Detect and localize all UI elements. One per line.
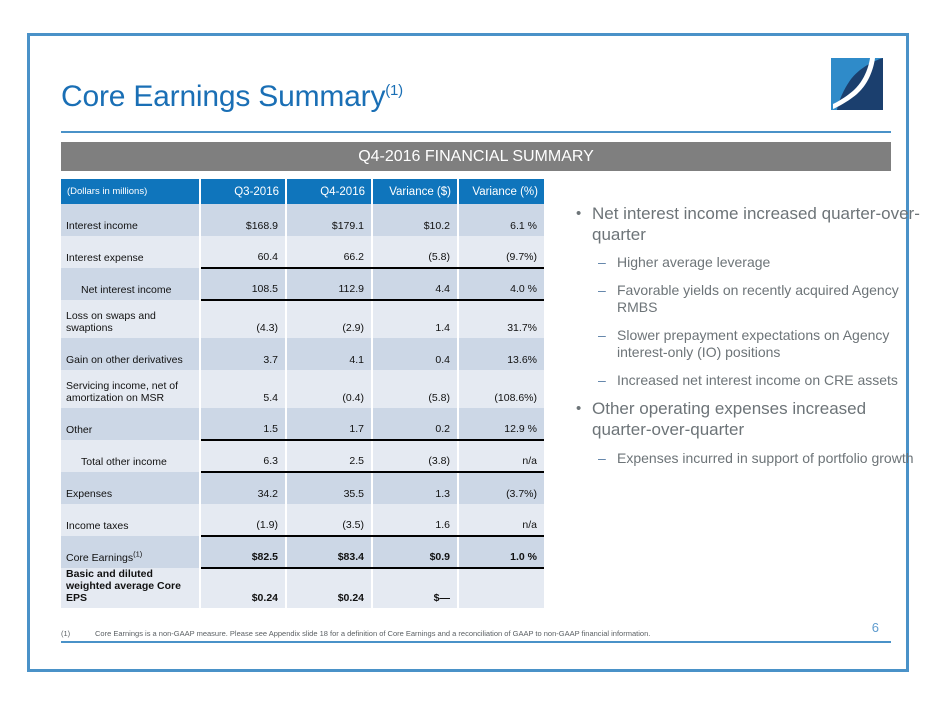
row-label: Loss on swaps and swaptions (61, 300, 200, 338)
row-value-q4: 66.2 (286, 236, 372, 268)
table-header: (Dollars in millions) Q3-2016 Q4-2016 Va… (61, 179, 544, 204)
sub-bullet-item: – Expenses incurred in support of portfo… (598, 450, 921, 468)
row-value-q4: $0.24 (286, 568, 372, 608)
row-value-variance-percent: 1.0 % (458, 536, 544, 568)
column-header-q4: Q4-2016 (286, 179, 372, 204)
table-header-row: (Dollars in millions) Q3-2016 Q4-2016 Va… (61, 179, 544, 204)
table-row-total: Basic and diluted weighted average Core … (61, 568, 544, 608)
row-label: Servicing income, net of amortization on… (61, 370, 200, 408)
row-value-variance-dollar: 0.4 (372, 338, 458, 370)
footnote-text: Core Earnings is a non-GAAP measure. Ple… (95, 629, 650, 638)
slide-frame: Core Earnings Summary(1) Q4-2016 FINANCI… (27, 33, 909, 672)
footnote: (1) Core Earnings is a non-GAAP measure.… (61, 629, 650, 638)
page-title: Core Earnings Summary(1) (61, 80, 403, 114)
dash-marker-icon: – (598, 254, 617, 272)
row-value-variance-dollar: (5.8) (372, 370, 458, 408)
row-value-variance-dollar: 1.3 (372, 472, 458, 504)
financial-table-container: (Dollars in millions) Q3-2016 Q4-2016 Va… (61, 179, 544, 608)
dash-marker-icon: – (598, 372, 617, 390)
column-header-variance-dollar: Variance ($) (372, 179, 458, 204)
row-value-q4: (0.4) (286, 370, 372, 408)
row-label: Expenses (61, 472, 200, 504)
row-label-footnote-marker: (1) (133, 549, 142, 558)
row-label: Other (61, 408, 200, 440)
row-value-variance-percent: n/a (458, 440, 544, 472)
sub-bullet-item: – Higher average leverage (598, 254, 921, 272)
bullet-marker-icon: • (576, 204, 592, 245)
company-logo-mark (831, 58, 883, 110)
table-body: Interest income $168.9 $179.1 $10.2 6.1 … (61, 204, 544, 608)
page-title-text: Core Earnings Summary (61, 80, 385, 113)
sub-bullet-text: Slower prepayment expectations on Agency… (617, 327, 921, 362)
page-title-footnote-marker: (1) (385, 82, 403, 99)
footnote-marker: (1) (61, 629, 95, 638)
bullet-text: Other operating expenses increased quart… (592, 399, 921, 440)
row-value-q3: 6.3 (200, 440, 286, 472)
row-label: Interest income (61, 204, 200, 236)
table-row-total: Core Earnings(1) $82.5 $83.4 $0.9 1.0 % (61, 536, 544, 568)
row-value-q4: (2.9) (286, 300, 372, 338)
sub-bullet-item: – Increased net interest income on CRE a… (598, 372, 921, 390)
row-value-q4: 35.5 (286, 472, 372, 504)
row-value-q3: 3.7 (200, 338, 286, 370)
table-row: Servicing income, net of amortization on… (61, 370, 544, 408)
row-value-q4: 1.7 (286, 408, 372, 440)
row-value-q3: $82.5 (200, 536, 286, 568)
row-label: Total other income (61, 440, 200, 472)
row-label: Gain on other derivatives (61, 338, 200, 370)
row-value-variance-dollar: (5.8) (372, 236, 458, 268)
row-value-variance-percent: 31.7% (458, 300, 544, 338)
dash-marker-icon: – (598, 450, 617, 468)
row-value-q4: 4.1 (286, 338, 372, 370)
row-value-q3: 34.2 (200, 472, 286, 504)
row-value-variance-dollar: 1.4 (372, 300, 458, 338)
row-value-variance-percent: (9.7%) (458, 236, 544, 268)
sub-bullet-text: Higher average leverage (617, 254, 921, 272)
row-label: Interest expense (61, 236, 200, 268)
row-value-variance-dollar: (3.8) (372, 440, 458, 472)
row-value-q3: 5.4 (200, 370, 286, 408)
sub-bullet-text: Favorable yields on recently acquired Ag… (617, 282, 921, 317)
section-header-bar: Q4-2016 FINANCIAL SUMMARY (61, 142, 891, 171)
row-label: Net interest income (61, 268, 200, 300)
sub-bullet-text: Increased net interest income on CRE ass… (617, 372, 921, 390)
row-value-q4: 2.5 (286, 440, 372, 472)
table-row: Loss on swaps and swaptions (4.3) (2.9) … (61, 300, 544, 338)
row-value-q3: (4.3) (200, 300, 286, 338)
row-value-variance-percent: 4.0 % (458, 268, 544, 300)
row-value-variance-percent: 13.6% (458, 338, 544, 370)
row-value-q3: $168.9 (200, 204, 286, 236)
sub-bullet-text: Expenses incurred in support of portfoli… (617, 450, 921, 468)
dash-marker-icon: – (598, 282, 617, 317)
section-header-label: Q4-2016 FINANCIAL SUMMARY (358, 148, 594, 166)
row-label: Income taxes (61, 504, 200, 536)
column-header-variance-percent: Variance (%) (458, 179, 544, 204)
bullet-text: Net interest income increased quarter-ov… (592, 204, 921, 245)
column-header-label: (Dollars in millions) (61, 179, 200, 204)
column-header-q3: Q3-2016 (200, 179, 286, 204)
row-value-variance-dollar: $10.2 (372, 204, 458, 236)
table-row: Other 1.5 1.7 0.2 12.9 % (61, 408, 544, 440)
page-number: 6 (872, 620, 879, 635)
row-value-variance-percent (458, 568, 544, 608)
row-value-q3: (1.9) (200, 504, 286, 536)
row-label: Core Earnings(1) (61, 536, 200, 568)
commentary-list: • Net interest income increased quarter-… (576, 204, 921, 477)
table-row-subtotal: Total other income 6.3 2.5 (3.8) n/a (61, 440, 544, 472)
row-value-variance-dollar: $0.9 (372, 536, 458, 568)
row-value-variance-percent: (108.6%) (458, 370, 544, 408)
sub-bullet-item: – Slower prepayment expectations on Agen… (598, 327, 921, 362)
table-row: Income taxes (1.9) (3.5) 1.6 n/a (61, 504, 544, 536)
table-row: Gain on other derivatives 3.7 4.1 0.4 13… (61, 338, 544, 370)
row-value-q4: (3.5) (286, 504, 372, 536)
row-value-q3: $0.24 (200, 568, 286, 608)
row-value-variance-percent: n/a (458, 504, 544, 536)
company-logo (831, 58, 883, 110)
row-value-q3: 1.5 (200, 408, 286, 440)
row-value-variance-percent: (3.7%) (458, 472, 544, 504)
table-row: Interest income $168.9 $179.1 $10.2 6.1 … (61, 204, 544, 236)
row-value-q3: 108.5 (200, 268, 286, 300)
dash-marker-icon: – (598, 327, 617, 362)
bullet-item: • Other operating expenses increased qua… (576, 399, 921, 440)
row-value-variance-dollar: 0.2 (372, 408, 458, 440)
row-value-variance-percent: 12.9 % (458, 408, 544, 440)
row-value-q4: $83.4 (286, 536, 372, 568)
row-label: Basic and diluted weighted average Core … (61, 568, 200, 608)
table-row: Interest expense 60.4 66.2 (5.8) (9.7%) (61, 236, 544, 268)
row-value-q4: 112.9 (286, 268, 372, 300)
row-value-variance-dollar: $— (372, 568, 458, 608)
row-label-text: Core Earnings (66, 552, 133, 564)
row-value-q3: 60.4 (200, 236, 286, 268)
bullet-item: • Net interest income increased quarter-… (576, 204, 921, 245)
row-value-variance-percent: 6.1 % (458, 204, 544, 236)
sub-bullet-item: – Favorable yields on recently acquired … (598, 282, 921, 317)
row-value-variance-dollar: 1.6 (372, 504, 458, 536)
bullet-marker-icon: • (576, 399, 592, 440)
footnote-divider (61, 641, 891, 643)
table-row: Expenses 34.2 35.5 1.3 (3.7%) (61, 472, 544, 504)
row-value-q4: $179.1 (286, 204, 372, 236)
table-row-subtotal: Net interest income 108.5 112.9 4.4 4.0 … (61, 268, 544, 300)
title-divider (61, 131, 891, 133)
financial-table: (Dollars in millions) Q3-2016 Q4-2016 Va… (61, 179, 544, 608)
row-value-variance-dollar: 4.4 (372, 268, 458, 300)
